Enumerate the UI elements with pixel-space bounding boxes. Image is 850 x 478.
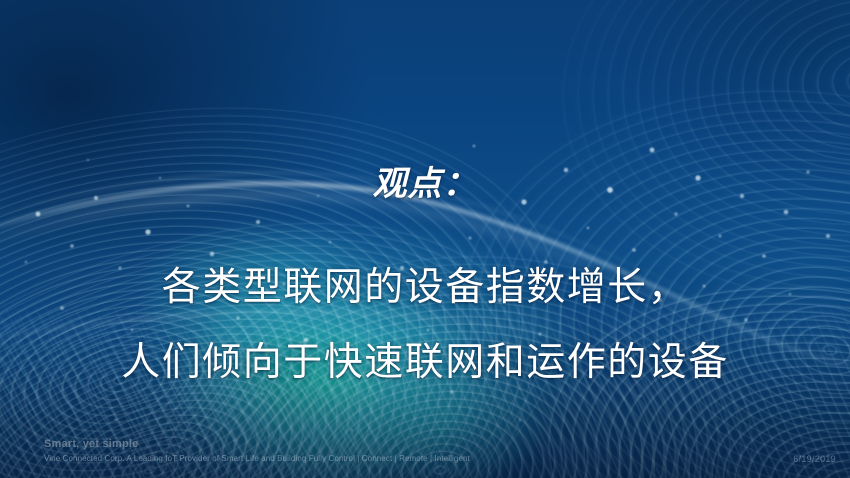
presentation-slide: 观点： 各类型联网的设备指数增长， 人们倾向于快速联网和运作的设备 Smart,… — [0, 0, 850, 478]
footer-company-line: Vine Connected Corp. A Leading IoT Provi… — [44, 453, 604, 465]
background-bottom-shade — [0, 0, 850, 478]
slide-footer: Smart, yet simple Vine Connected Corp. A… — [44, 437, 604, 465]
footer-tagline: Smart, yet simple — [44, 437, 604, 453]
slide-date: 6/19/2019 — [793, 454, 836, 464]
